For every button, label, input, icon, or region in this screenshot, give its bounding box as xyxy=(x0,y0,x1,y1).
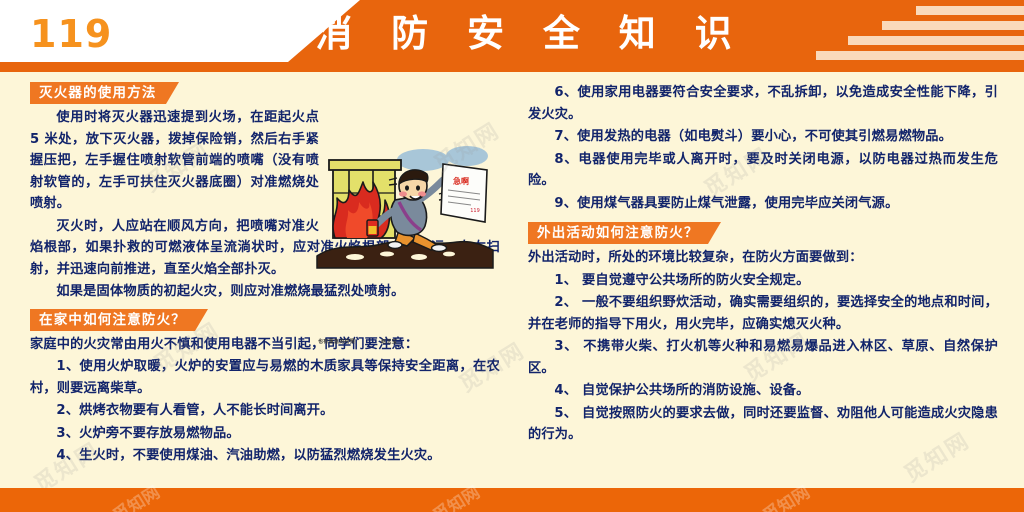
illustration-caption-left: 也有重急的村预 xyxy=(318,339,355,345)
svg-text:急啊: 急啊 xyxy=(453,176,469,186)
poster-root: 119 消 防 安 全 知 识 灭火器的使用方法 使用时将灭火器迅速提到火场，在… xyxy=(0,0,1024,512)
list-item-home-3: 3、火炉旁不要存放易燃物品。 xyxy=(30,423,500,445)
deco-bar-2 xyxy=(882,21,1024,30)
deco-bar-3 xyxy=(848,36,1024,45)
deco-bar-1 xyxy=(916,6,1024,15)
illustration-caption: 也有重急的村预赵玉宝 xyxy=(318,338,397,345)
list-item-home-1: 1、使用火炉取暖，火炉的安置应与易燃的木质家具等保持安全距离，在农村，则要远离柴… xyxy=(30,356,500,399)
right-column: 6、使用家用电器要符合安全要求，不乱拆卸，以免造成安全性能下降，引发火灾。 7、… xyxy=(528,82,998,447)
list-item-outdoor-4: 4、 自觉保护公共场所的消防设施、设备。 xyxy=(528,380,998,402)
illustration-caption-author: 赵玉宝 xyxy=(381,339,397,345)
ribbon-tail-icon xyxy=(708,222,721,244)
ribbon-tail-icon xyxy=(166,82,179,104)
list-item-appliance-7: 7、使用发热的电器（如电熨斗）要小心，不可使其引燃易燃物品。 xyxy=(528,126,998,148)
ribbon-tail-icon xyxy=(195,309,208,331)
fire-scene-illustration: 急啊 119 xyxy=(315,138,495,286)
section-heading-label: 外出活动如何注意防火？ xyxy=(528,222,708,244)
page-title: 消 防 安 全 知 识 xyxy=(270,9,790,59)
list-item-home-2: 2、烘烤衣物要有人看管，人不能长时间离开。 xyxy=(30,400,500,422)
list-item-appliance-6: 6、使用家用电器要符合安全要求，不乱拆卸，以免造成安全性能下降，引发火灾。 xyxy=(528,82,998,125)
section-heading-label: 在家中如何注意防火？ xyxy=(30,309,195,331)
emergency-number-119: 119 xyxy=(30,12,112,56)
section-heading-outdoor-fire-prevention: 外出活动如何注意防火？ xyxy=(528,222,708,244)
poster-content: 灭火器的使用方法 使用时将灭火器迅速提到火场，在距起火点 5 米处，放下灭火器，… xyxy=(0,76,1024,488)
paragraph-home-intro: 家庭中的火灾常由用火不慎和使用电器不当引起，同学们要注意： xyxy=(30,334,500,356)
footer-bar: 觅知网 觅知网 觅知网 xyxy=(0,488,1024,512)
list-item-outdoor-1: 1、 要自觉遵守公共场所的防火安全规定。 xyxy=(528,270,998,292)
list-item-outdoor-3: 3、 不携带火柴、打火机等火种和易燃易爆品进入林区、草原、自然保护区。 xyxy=(528,336,998,379)
header-decoration-bars xyxy=(794,4,1024,68)
section-heading-label: 灭火器的使用方法 xyxy=(30,82,166,104)
paragraph-outdoor-intro: 外出活动时，所处的环境比较复杂，在防火方面要做到： xyxy=(528,247,998,269)
section-heading-home-fire-prevention: 在家中如何注意防火？ xyxy=(30,309,195,331)
deco-bar-4 xyxy=(816,51,1024,60)
svg-text:119: 119 xyxy=(470,208,480,214)
poster-header: 119 消 防 安 全 知 识 xyxy=(0,0,1024,72)
list-item-appliance-9: 9、使用煤气器具要防止煤气泄露，使用完毕应关闭气源。 xyxy=(528,193,998,215)
list-item-appliance-8: 8、电器使用完毕或人离开时，要及时关闭电源，以防电器过热而发生危险。 xyxy=(528,149,998,192)
section-heading-extinguisher-usage: 灭火器的使用方法 xyxy=(30,82,166,104)
column-spacer xyxy=(528,215,998,222)
list-item-home-4: 4、生火时，不要使用煤油、汽油助燃，以防猛烈燃烧发生火灾。 xyxy=(30,445,500,467)
list-item-outdoor-5: 5、 自觉按照防火的要求去做，同时还要监督、劝阻他人可能造成火灾隐患的行为。 xyxy=(528,403,998,446)
list-item-outdoor-2: 2、 一般不要组织野炊活动，确实需要组织的，要选择安全的地点和时间，并在老师的指… xyxy=(528,292,998,335)
